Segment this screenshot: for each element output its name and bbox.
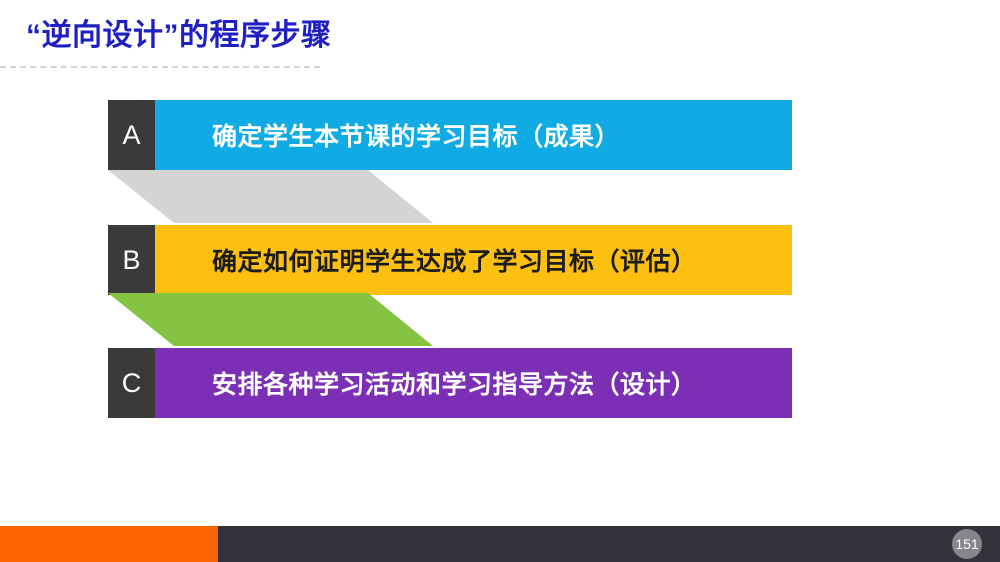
page-number-badge: 151	[952, 529, 982, 559]
parallelogram-gray-icon	[108, 170, 433, 223]
step-label-b: 确定如何证明学生达成了学习目标（评估）	[155, 225, 792, 295]
step-badge-b: B	[108, 225, 155, 295]
slide-canvas: “逆向设计”的程序步骤 A 确定学生本节课的学习目标（成果） B 确定如何证明学…	[0, 0, 1000, 562]
step-badge-a: A	[108, 100, 155, 170]
step-row-a[interactable]: A 确定学生本节课的学习目标（成果）	[108, 100, 792, 170]
step-row-c[interactable]: C 安排各种学习活动和学习指导方法（设计）	[108, 348, 792, 418]
step-badge-c: C	[108, 348, 155, 418]
parallelogram-green-icon	[108, 293, 433, 346]
connector-b-to-c	[108, 293, 433, 346]
step-label-a: 确定学生本节课的学习目标（成果）	[155, 100, 792, 170]
title-divider	[0, 66, 320, 68]
connector-a-to-b	[108, 170, 433, 223]
page-title: “逆向设计”的程序步骤	[26, 16, 332, 56]
step-label-c: 安排各种学习活动和学习指导方法（设计）	[155, 348, 792, 418]
footer-accent-block	[0, 526, 218, 562]
step-row-b[interactable]: B 确定如何证明学生达成了学习目标（评估）	[108, 225, 792, 295]
